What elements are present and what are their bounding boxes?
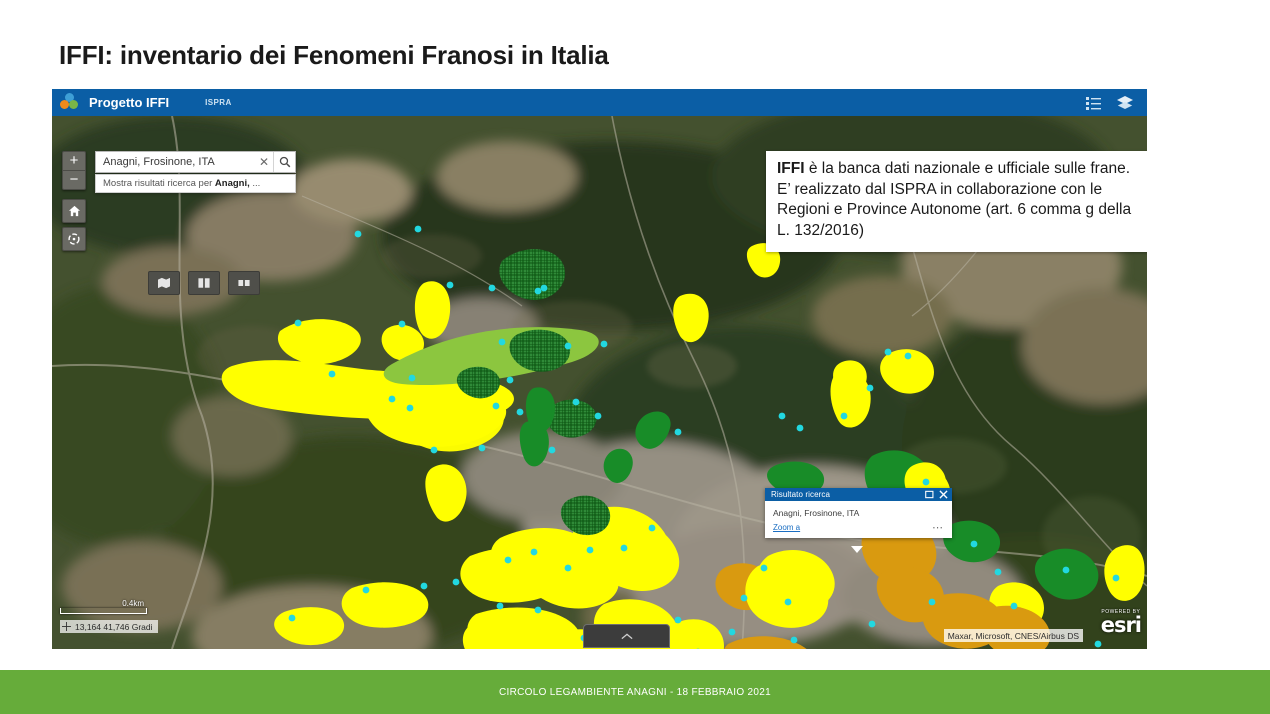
clear-search-icon[interactable]: ✕ — [255, 155, 273, 169]
popup-header: Risultato ricerca — [765, 488, 952, 501]
footer-text: CIRCOLO LEGAMBIENTE ANAGNI - 18 FEBBRAIO… — [499, 687, 771, 698]
search-suggestion[interactable]: Mostra risultati ricerca per Anagni, ... — [95, 174, 296, 193]
zoom-to-link[interactable]: Zoom a — [773, 523, 800, 532]
esri-wordmark: esri — [1101, 615, 1141, 635]
locate-button[interactable] — [62, 227, 86, 251]
bookmark-icon — [197, 277, 211, 289]
header-actions — [1085, 95, 1133, 111]
coordinates-text: 13,164 41,746 Gradi — [75, 622, 153, 632]
search-submit-button[interactable] — [273, 152, 295, 172]
zoom-out-button[interactable]: − — [63, 171, 85, 189]
zoom-in-button[interactable]: + — [63, 152, 85, 171]
maximize-icon[interactable] — [925, 490, 934, 499]
popup-footer: Zoom a ⋯ — [765, 521, 952, 538]
suggestion-term: Anagni, — [215, 178, 250, 189]
suggestion-prefix: Mostra risultati ricerca per — [103, 178, 215, 189]
app-title: Progetto IFFI — [89, 95, 169, 110]
coordinate-readout[interactable]: 13,164 41,746 Gradi — [60, 620, 158, 633]
close-icon[interactable] — [939, 490, 948, 499]
page-title: IFFI: inventario dei Fenomeni Franosi in… — [59, 40, 609, 71]
layers-icon[interactable] — [1116, 95, 1133, 111]
search-icon — [279, 156, 291, 168]
scale-line — [60, 608, 147, 614]
compare-button[interactable] — [228, 271, 260, 295]
basemap-icon — [157, 277, 171, 289]
popup-actions — [925, 490, 948, 499]
popup-result-text: Anagni, Frosinone, ITA — [765, 501, 952, 521]
scale-bar: 0.4km — [60, 599, 147, 614]
compare-icon — [237, 277, 251, 289]
map-canvas[interactable]: + − — [52, 116, 1147, 649]
locate-crosshair-icon — [67, 232, 81, 246]
esri-logo: POWERED BY esri — [1101, 609, 1141, 635]
info-panel-body: è la banca dati nazionale e ufficiale su… — [777, 160, 1131, 239]
basemap-button[interactable] — [148, 271, 180, 295]
search-bar: ✕ — [95, 151, 296, 173]
app-header: Progetto IFFI ISPRA — [52, 89, 1147, 116]
scale-label: 0.4km — [60, 599, 147, 608]
search-widget: ✕ Mostra risultati ricerca per Anagni, .… — [95, 151, 296, 193]
home-icon — [68, 205, 81, 217]
slide-footer: CIRCOLO LEGAMBIENTE ANAGNI - 18 FEBBRAIO… — [0, 670, 1270, 714]
bookmark-button[interactable] — [188, 271, 220, 295]
map-attribution: Maxar, Microsoft, CNES/Airbus DS — [944, 629, 1083, 642]
search-input[interactable] — [96, 152, 255, 172]
app-subtitle-ispra: ISPRA — [205, 98, 231, 107]
map-toolbar — [148, 271, 260, 295]
info-panel-lead: IFFI — [777, 160, 805, 177]
bottom-panel-handle[interactable] — [583, 624, 670, 648]
info-panel: IFFI è la banca dati nazionale e ufficia… — [766, 151, 1147, 252]
popup-pointer — [851, 546, 863, 553]
iffi-logo-icon — [60, 93, 80, 113]
crosshair-icon — [62, 622, 71, 631]
chevron-up-icon — [621, 633, 633, 640]
iffi-map-application: Progetto IFFI ISPRA — [52, 89, 1147, 649]
info-panel-text: IFFI è la banca dati nazionale e ufficia… — [777, 159, 1137, 241]
legend-icon[interactable] — [1085, 95, 1102, 111]
popup-title: Risultato ricerca — [771, 490, 830, 499]
search-result-popup: Risultato ricerca Anagni, Frosinone, ITA… — [765, 488, 952, 538]
zoom-control[interactable]: + − — [62, 151, 86, 190]
popup-more-button[interactable]: ⋯ — [932, 525, 944, 531]
home-button[interactable] — [62, 199, 86, 223]
suggestion-suffix: ... — [250, 178, 261, 189]
